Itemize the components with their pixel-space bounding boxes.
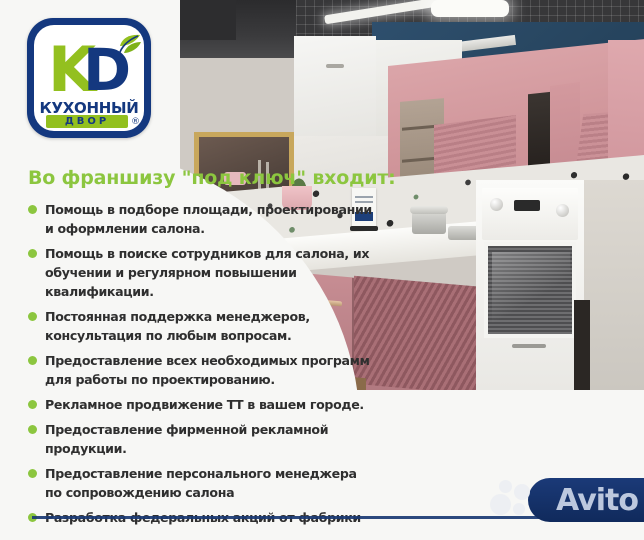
bullet-dot-icon <box>28 356 37 365</box>
avito-dot <box>490 494 511 515</box>
benefits-list: Помощь в подборе площади, проектировании… <box>28 200 376 533</box>
page-title: Во франшизу "под ключ" входит: <box>28 167 396 189</box>
avito-dot <box>499 480 512 493</box>
oven-display <box>514 200 540 211</box>
brand-logo: K D КУХОННЫЙ ДВОР ® <box>27 18 151 138</box>
list-item-label: Помощь в подборе площади, проектировании… <box>45 202 372 236</box>
bullet-dot-icon <box>28 205 37 214</box>
ceiling-light-panel <box>431 0 509 17</box>
cabinet-handle <box>326 64 344 68</box>
logo-word-bottom: ДВОР <box>46 115 128 128</box>
list-item: Постоянная поддержка менеджеров, консуль… <box>28 307 376 345</box>
list-item-label: Помощь в поиске сотрудников для салона, … <box>45 246 369 299</box>
registered-mark: ® <box>131 117 140 127</box>
list-item: Предоставление персонального менеджера п… <box>28 464 376 502</box>
avito-dot <box>514 484 530 500</box>
cooking-pot <box>412 212 446 234</box>
list-item-label: Предоставление всех необходимых программ… <box>45 353 370 387</box>
bullet-dot-icon <box>28 400 37 409</box>
oven-brand-label <box>512 344 546 348</box>
list-item-label: Предоставление персонального менеджера п… <box>45 466 357 500</box>
watermark-label: Avito <box>556 483 638 518</box>
avito-logo-icon <box>490 480 532 520</box>
list-item: Помощь в подборе площади, проектировании… <box>28 200 376 238</box>
bullet-dot-icon <box>28 469 37 478</box>
bullet-dot-icon <box>28 312 37 321</box>
list-item-label: Предоставление фирменной рекламной проду… <box>45 422 328 456</box>
brand-logo-inner: K D КУХОННЫЙ ДВОР ® <box>34 25 144 131</box>
oven-door-reflection <box>492 252 570 328</box>
oven-knob <box>490 198 503 211</box>
list-item: Помощь в поиске сотрудников для салона, … <box>28 244 376 301</box>
bullet-dot-icon <box>28 249 37 258</box>
pot-lid <box>410 206 448 214</box>
list-item-label: Рекламное продвижение ТТ в вашем городе. <box>45 397 364 412</box>
info-sign-line <box>355 196 373 198</box>
list-item: Предоставление фирменной рекламной проду… <box>28 420 376 458</box>
advertisement-card: K D КУХОННЫЙ ДВОР ® Во франшизу "под клю… <box>0 0 644 540</box>
ceiling-shadow <box>176 0 236 40</box>
right-wall <box>584 180 644 390</box>
bullet-dot-icon <box>28 425 37 434</box>
list-item-label: Постоянная поддержка менеджеров, консуль… <box>45 309 310 343</box>
list-item: Предоставление всех необходимых программ… <box>28 351 376 389</box>
cabinet-gap-shadow <box>574 300 590 390</box>
avito-dot <box>513 503 525 515</box>
oven-knob <box>556 204 569 217</box>
list-item: Рекламное продвижение ТТ в вашем городе. <box>28 395 376 414</box>
leaf-icon <box>110 33 142 59</box>
white-cabinet-door <box>294 36 376 136</box>
